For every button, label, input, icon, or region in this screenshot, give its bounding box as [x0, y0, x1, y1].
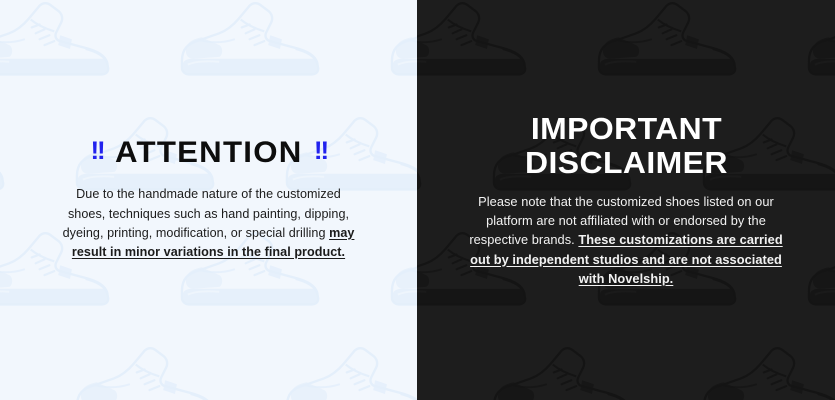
disclaimer-heading-line-2: DISCLAIMER — [525, 146, 728, 179]
exclamation-left-icon: !! — [90, 139, 103, 165]
attention-body: Due to the handmade nature of the custom… — [59, 185, 359, 262]
disclaimer-heading-line-1: IMPORTANT — [525, 112, 728, 145]
attention-content: !! ATTENTION !! Due to the handmade natu… — [0, 0, 417, 400]
exclamation-right-icon: !! — [314, 139, 327, 165]
disclaimer-heading: IMPORTANT DISCLAIMER — [525, 112, 728, 179]
attention-body-normal: Due to the handmade nature of the custom… — [63, 187, 350, 240]
attention-heading: !! ATTENTION !! — [90, 138, 327, 169]
attention-panel: !! ATTENTION !! Due to the handmade natu… — [0, 0, 417, 400]
disclaimer-banner: !! ATTENTION !! Due to the handmade natu… — [0, 0, 835, 400]
disclaimer-panel: IMPORTANT DISCLAIMER Please note that th… — [417, 0, 835, 400]
disclaimer-body: Please note that the customized shoes li… — [465, 192, 787, 288]
attention-heading-text: ATTENTION — [115, 138, 302, 169]
disclaimer-content: IMPORTANT DISCLAIMER Please note that th… — [417, 0, 835, 400]
